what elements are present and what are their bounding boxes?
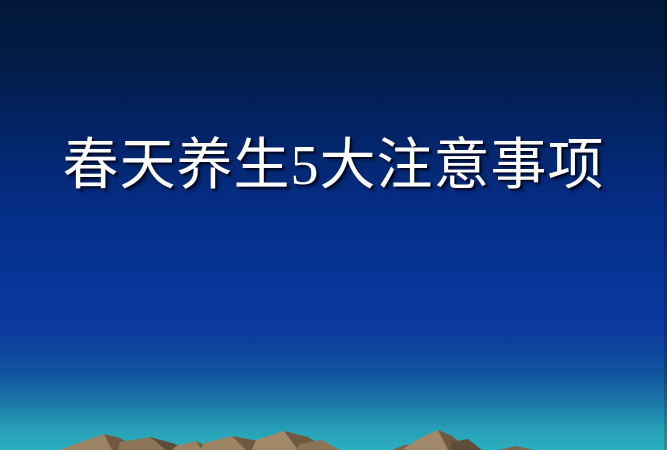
mountain-range-graphic bbox=[0, 410, 667, 450]
presentation-slide: 春天养生5大注意事项 bbox=[0, 0, 667, 450]
sky-gradient-background bbox=[0, 0, 667, 450]
